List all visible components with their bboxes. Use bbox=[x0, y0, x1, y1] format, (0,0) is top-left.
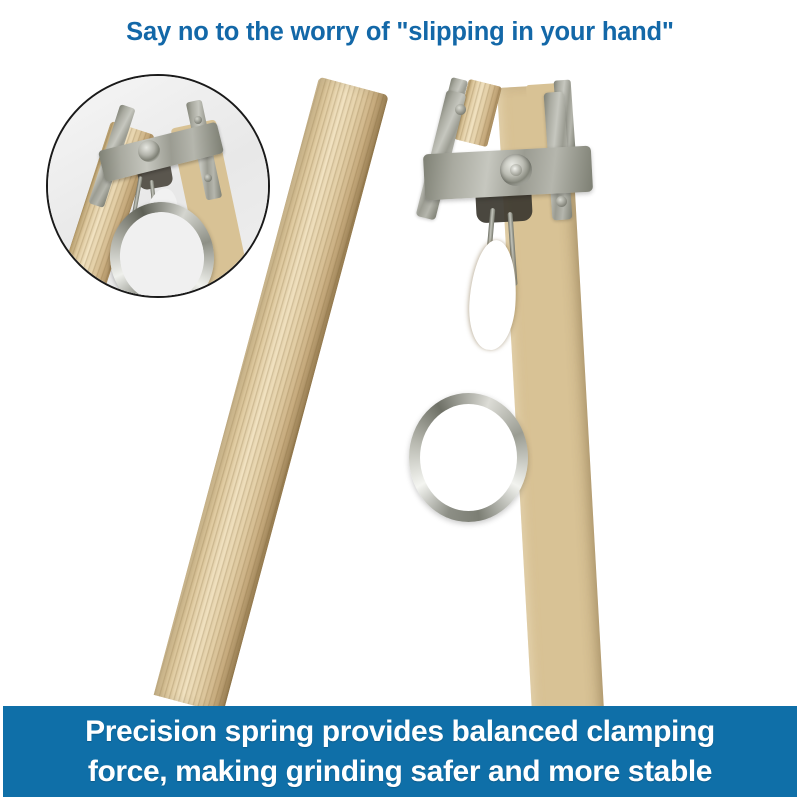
bottom-caption-banner: Precision spring provides balanced clamp… bbox=[3, 706, 797, 797]
chrome-spring-ring bbox=[409, 393, 528, 522]
bracket-screw-bottom bbox=[556, 196, 567, 207]
product-feature-image: Say no to the worry of "slipping in your… bbox=[0, 0, 800, 800]
inset-bracket-screw-bottom bbox=[204, 174, 212, 182]
banner-line-1: Precision spring provides balanced clamp… bbox=[85, 712, 715, 752]
banner-line-2: force, making grinding safer and more st… bbox=[88, 752, 712, 792]
bracket-screw-top bbox=[455, 104, 466, 115]
inset-bracket-screw-top bbox=[194, 116, 202, 124]
closeup-inset-circle bbox=[46, 74, 270, 298]
pivot-rivet-icon bbox=[500, 154, 532, 186]
inset-pivot-rivet-icon bbox=[138, 140, 160, 162]
